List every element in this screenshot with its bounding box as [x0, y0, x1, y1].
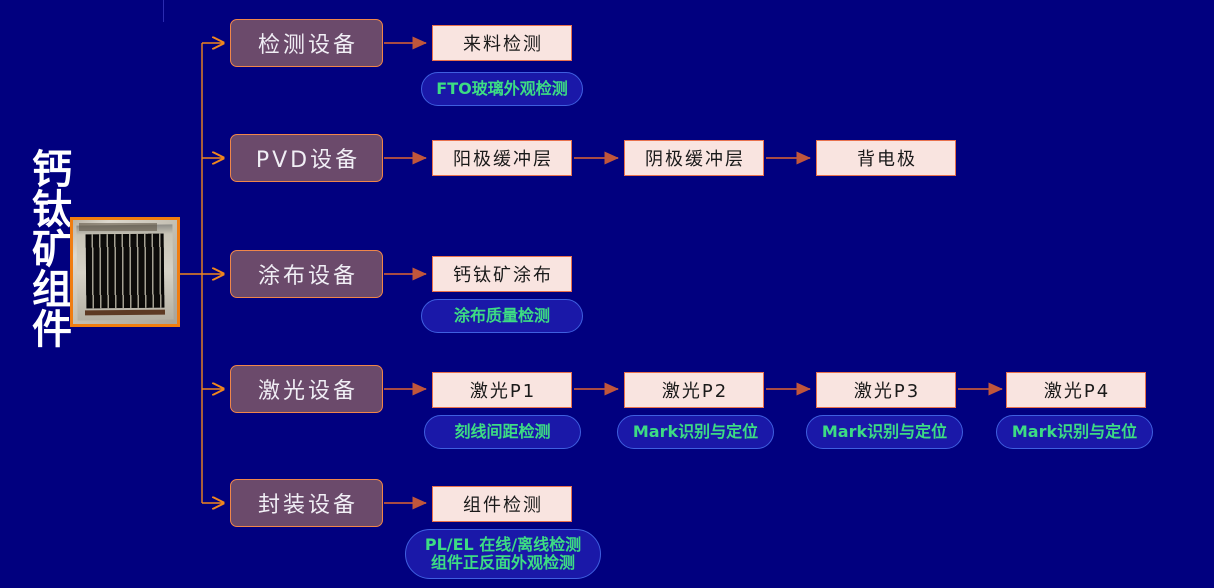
pill-line: 刻线间距检测: [454, 423, 550, 441]
inspection-pill-mark-p2[interactable]: Mark识别与定位: [617, 415, 774, 449]
pill-line: 涂布质量检测: [454, 307, 550, 325]
pill-line: FTO玻璃外观检测: [436, 80, 567, 98]
equipment-box-pvd[interactable]: PVD设备: [230, 134, 383, 182]
process-box-laser-p2[interactable]: 激光P2: [624, 372, 764, 408]
process-box-module-inspection[interactable]: 组件检测: [432, 486, 572, 522]
process-box-cathode-buffer[interactable]: 阴极缓冲层: [624, 140, 764, 176]
photo-scribe-lines: [86, 234, 165, 309]
photo-top-smudge: [79, 223, 157, 231]
inspection-pill-scribe-pitch[interactable]: 刻线间距检测: [424, 415, 581, 449]
inspection-pill-mark-p4[interactable]: Mark识别与定位: [996, 415, 1153, 449]
process-box-back-electrode[interactable]: 背电极: [816, 140, 956, 176]
pill-line: Mark识别与定位: [633, 423, 758, 441]
inspection-pill-mark-p3[interactable]: Mark识别与定位: [806, 415, 963, 449]
equipment-box-coating[interactable]: 涂布设备: [230, 250, 383, 298]
inspection-pill-coating-quality[interactable]: 涂布质量检测: [421, 299, 583, 333]
pill-line: Mark识别与定位: [822, 423, 947, 441]
process-box-laser-p4[interactable]: 激光P4: [1006, 372, 1146, 408]
pill-line: Mark识别与定位: [1012, 423, 1137, 441]
flowchart-canvas: 钙钛矿组件: [0, 0, 1214, 588]
process-box-laser-p1[interactable]: 激光P1: [432, 372, 572, 408]
photo-active-area: [86, 234, 165, 309]
process-box-laser-p3[interactable]: 激光P3: [816, 372, 956, 408]
equipment-box-encapsulation[interactable]: 封装设备: [230, 479, 383, 527]
page-title: 钙钛矿组件: [10, 148, 68, 348]
pill-line: 组件正反面外观检测: [431, 554, 575, 572]
equipment-box-laser[interactable]: 激光设备: [230, 365, 383, 413]
decorative-top-line: [163, 0, 164, 22]
equipment-box-inspection[interactable]: 检测设备: [230, 19, 383, 67]
inspection-pill-fto-glass[interactable]: FTO玻璃外观检测: [421, 72, 583, 106]
pill-line: PL/EL 在线/离线检测: [425, 536, 581, 554]
process-box-incoming-inspection[interactable]: 来料检测: [432, 25, 572, 61]
connector-wires: [0, 0, 1214, 588]
photo-bottom-strip: [85, 310, 165, 316]
process-box-anode-buffer[interactable]: 阳极缓冲层: [432, 140, 572, 176]
perovskite-module-photo: [70, 217, 180, 327]
process-box-perovskite-coating[interactable]: 钙钛矿涂布: [432, 256, 572, 292]
inspection-pill-plel-appearance[interactable]: PL/EL 在线/离线检测 组件正反面外观检测: [405, 529, 601, 579]
